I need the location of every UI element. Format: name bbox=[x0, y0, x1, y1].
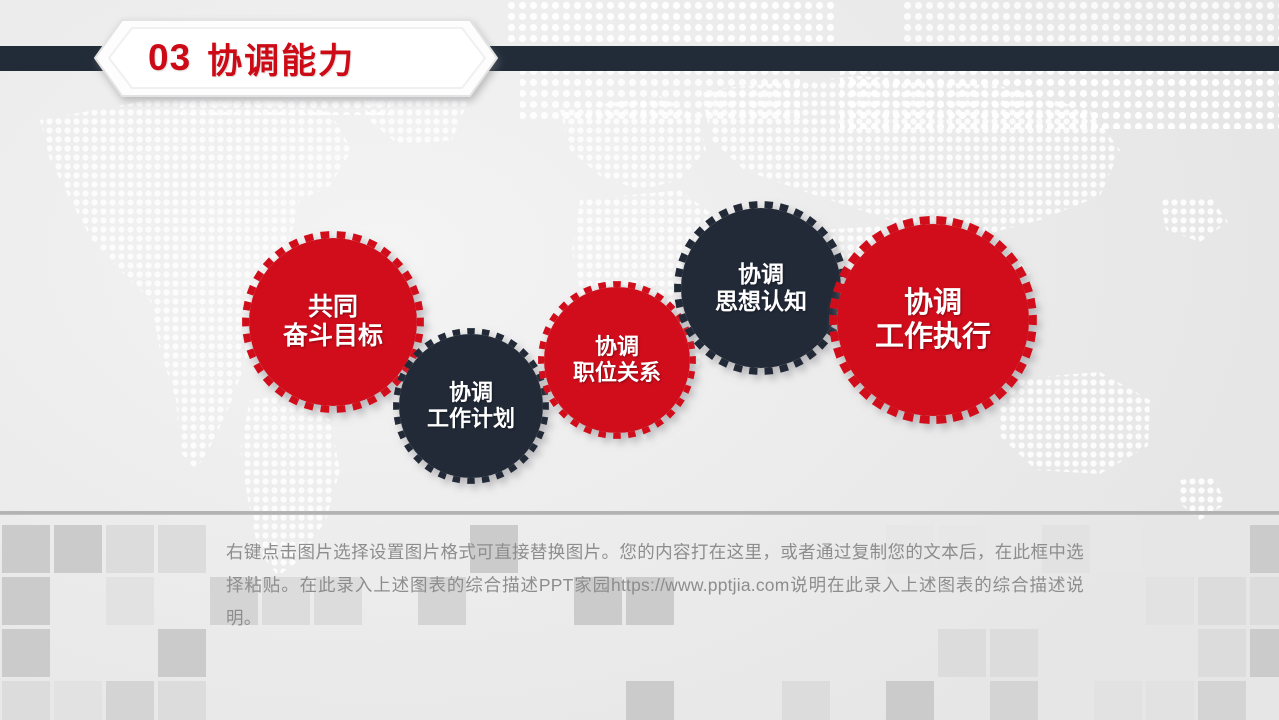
mosaic-square bbox=[782, 681, 830, 720]
mosaic-square bbox=[1198, 629, 1246, 677]
mosaic-square bbox=[158, 681, 206, 720]
mosaic-square bbox=[1198, 577, 1246, 625]
mosaic-square bbox=[1094, 681, 1142, 720]
mosaic-square bbox=[990, 681, 1038, 720]
mosaic-square bbox=[1250, 629, 1279, 677]
mosaic-square bbox=[54, 681, 102, 720]
mosaic-square bbox=[626, 681, 674, 720]
description-paragraph: 右键点击图片选择设置图片格式可直接替换图片。您的内容打在这里，或者通过复制您的文… bbox=[226, 536, 1084, 635]
mosaic-square bbox=[938, 629, 986, 677]
mosaic-square bbox=[158, 525, 206, 573]
mosaic-square bbox=[1250, 577, 1279, 625]
mosaic-square bbox=[2, 525, 50, 573]
mosaic-square bbox=[106, 681, 154, 720]
mosaic-square bbox=[990, 629, 1038, 677]
mosaic-square bbox=[54, 525, 102, 573]
mosaic-square bbox=[1146, 577, 1194, 625]
gear-diagram: 共同 奋斗目标 协调 工作计划 协调 职位关系 协调 思想认知 bbox=[0, 0, 1279, 520]
mosaic-square bbox=[106, 577, 154, 625]
mosaic-square bbox=[1250, 525, 1279, 573]
mosaic-square bbox=[158, 629, 206, 677]
mosaic-square bbox=[106, 525, 154, 573]
mosaic-square bbox=[1198, 681, 1246, 720]
mosaic-square bbox=[2, 629, 50, 677]
mosaic-square bbox=[2, 577, 50, 625]
mosaic-square bbox=[1094, 525, 1142, 573]
mosaic-square bbox=[886, 681, 934, 720]
mosaic-square bbox=[1146, 681, 1194, 720]
slide-canvas: 03 协调能力 共同 奋斗目标 协调 工作计划 协调 职位关系 bbox=[0, 0, 1279, 720]
gear-work-execution[interactable]: 协调 工作执行 bbox=[819, 206, 1047, 434]
mosaic-square bbox=[2, 681, 50, 720]
